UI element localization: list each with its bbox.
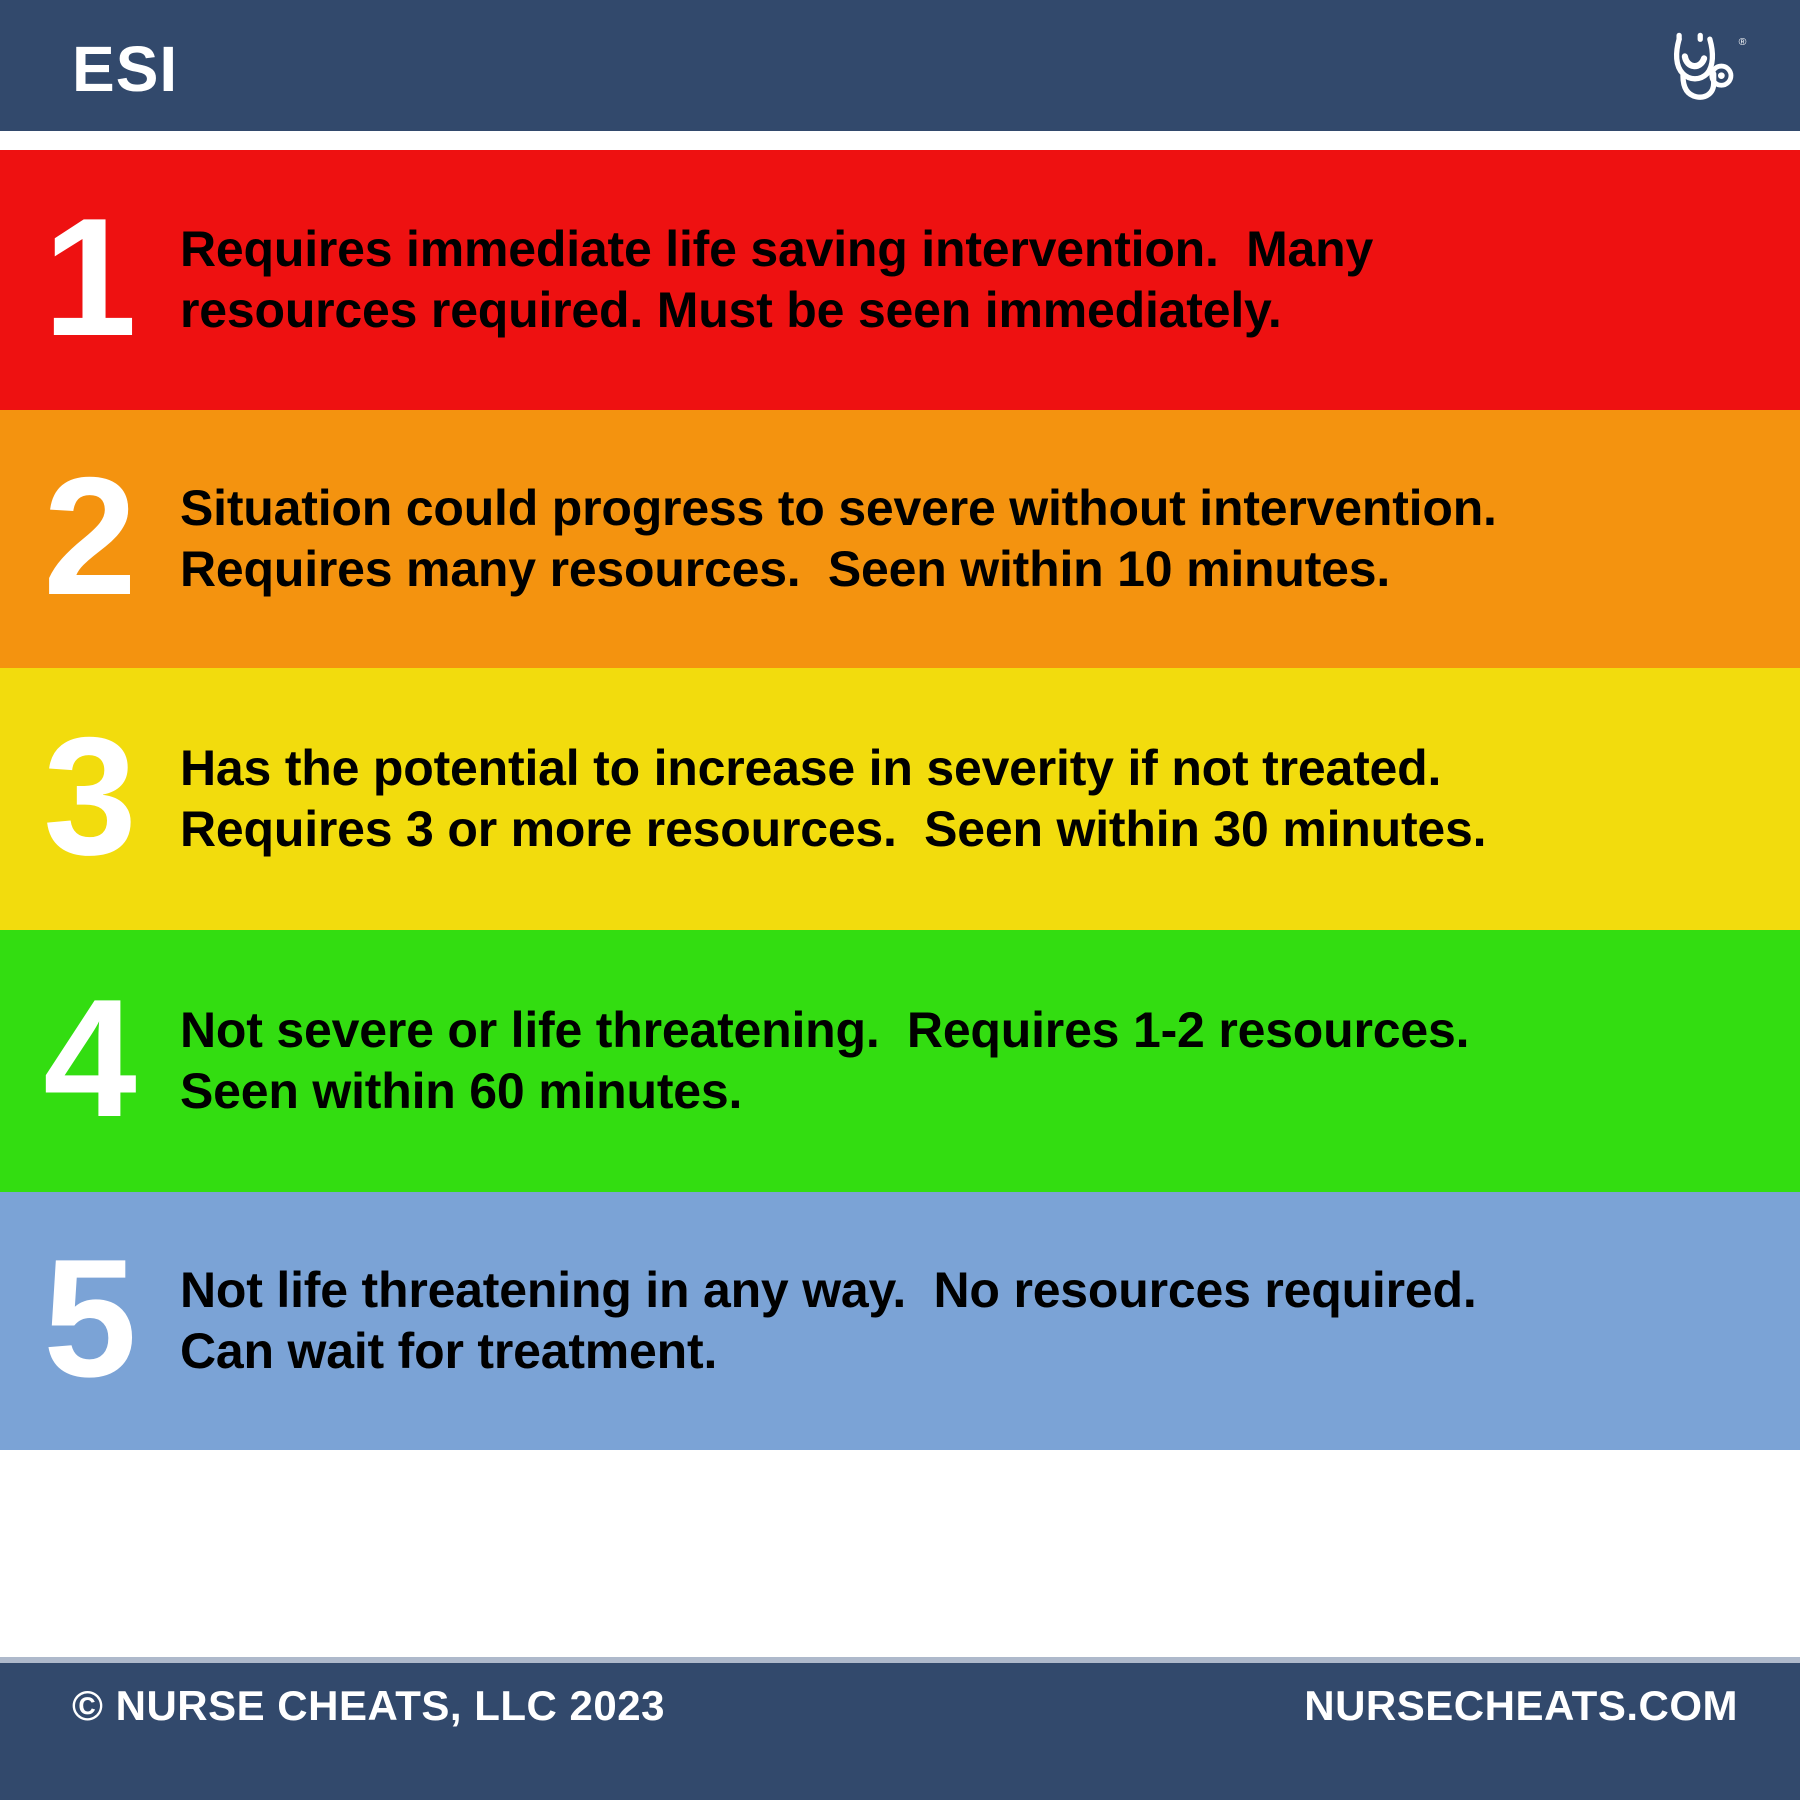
level-description-line1: Not life threatening in any way. No reso… bbox=[180, 1260, 1760, 1321]
level-description-line2: Can wait for treatment. bbox=[180, 1321, 1760, 1382]
level-description-line2: Requires many resources. Seen within 10 … bbox=[180, 539, 1760, 600]
footer-divider bbox=[0, 1650, 1800, 1657]
level-description-line1: Requires immediate life saving intervent… bbox=[180, 219, 1760, 280]
level-description: Situation could progress to severe witho… bbox=[180, 478, 1800, 600]
level-description: Requires immediate life saving intervent… bbox=[180, 219, 1800, 341]
triage-level-row-5: 5 Not life threatening in any way. No re… bbox=[0, 1192, 1800, 1450]
triage-level-row-1: 1 Requires immediate life saving interve… bbox=[0, 150, 1800, 410]
level-number: 3 bbox=[0, 712, 180, 886]
level-description-line2: resources required. Must be seen immedia… bbox=[180, 280, 1760, 341]
website-link[interactable]: NURSECHEATS.COM bbox=[1304, 1685, 1738, 1727]
level-description-line2: Seen within 60 minutes. bbox=[180, 1061, 1760, 1122]
level-description: Not life threatening in any way. No reso… bbox=[180, 1260, 1800, 1382]
level-number: 5 bbox=[0, 1234, 180, 1408]
stethoscope-smiley-logo-icon: ® bbox=[1658, 20, 1754, 116]
triage-levels-list: 1 Requires immediate life saving interve… bbox=[0, 150, 1800, 1650]
level-description: Has the potential to increase in severit… bbox=[180, 738, 1800, 860]
level-number: 1 bbox=[0, 193, 180, 367]
level-description-line1: Has the potential to increase in severit… bbox=[180, 738, 1760, 799]
esi-triage-infographic: ESI ® bbox=[0, 0, 1800, 1800]
level-number: 2 bbox=[0, 452, 180, 626]
svg-text:®: ® bbox=[1739, 35, 1747, 47]
header-divider bbox=[0, 131, 1800, 150]
page-title: ESI bbox=[72, 37, 178, 101]
level-description-line1: Situation could progress to severe witho… bbox=[180, 478, 1760, 539]
triage-level-row-3: 3 Has the potential to increase in sever… bbox=[0, 668, 1800, 930]
footer-bar: © NURSE CHEATS, LLC 2023 NURSECHEATS.COM bbox=[0, 1663, 1800, 1800]
level-description-line1: Not severe or life threatening. Requires… bbox=[180, 1000, 1760, 1061]
level-description-line2: Requires 3 or more resources. Seen withi… bbox=[180, 799, 1760, 860]
triage-level-row-2: 2 Situation could progress to severe wit… bbox=[0, 410, 1800, 668]
level-number: 4 bbox=[0, 974, 180, 1148]
triage-level-row-4: 4 Not severe or life threatening. Requir… bbox=[0, 930, 1800, 1192]
header-bar: ESI ® bbox=[0, 0, 1800, 131]
level-description: Not severe or life threatening. Requires… bbox=[180, 1000, 1800, 1122]
copyright-text: © NURSE CHEATS, LLC 2023 bbox=[72, 1685, 665, 1727]
